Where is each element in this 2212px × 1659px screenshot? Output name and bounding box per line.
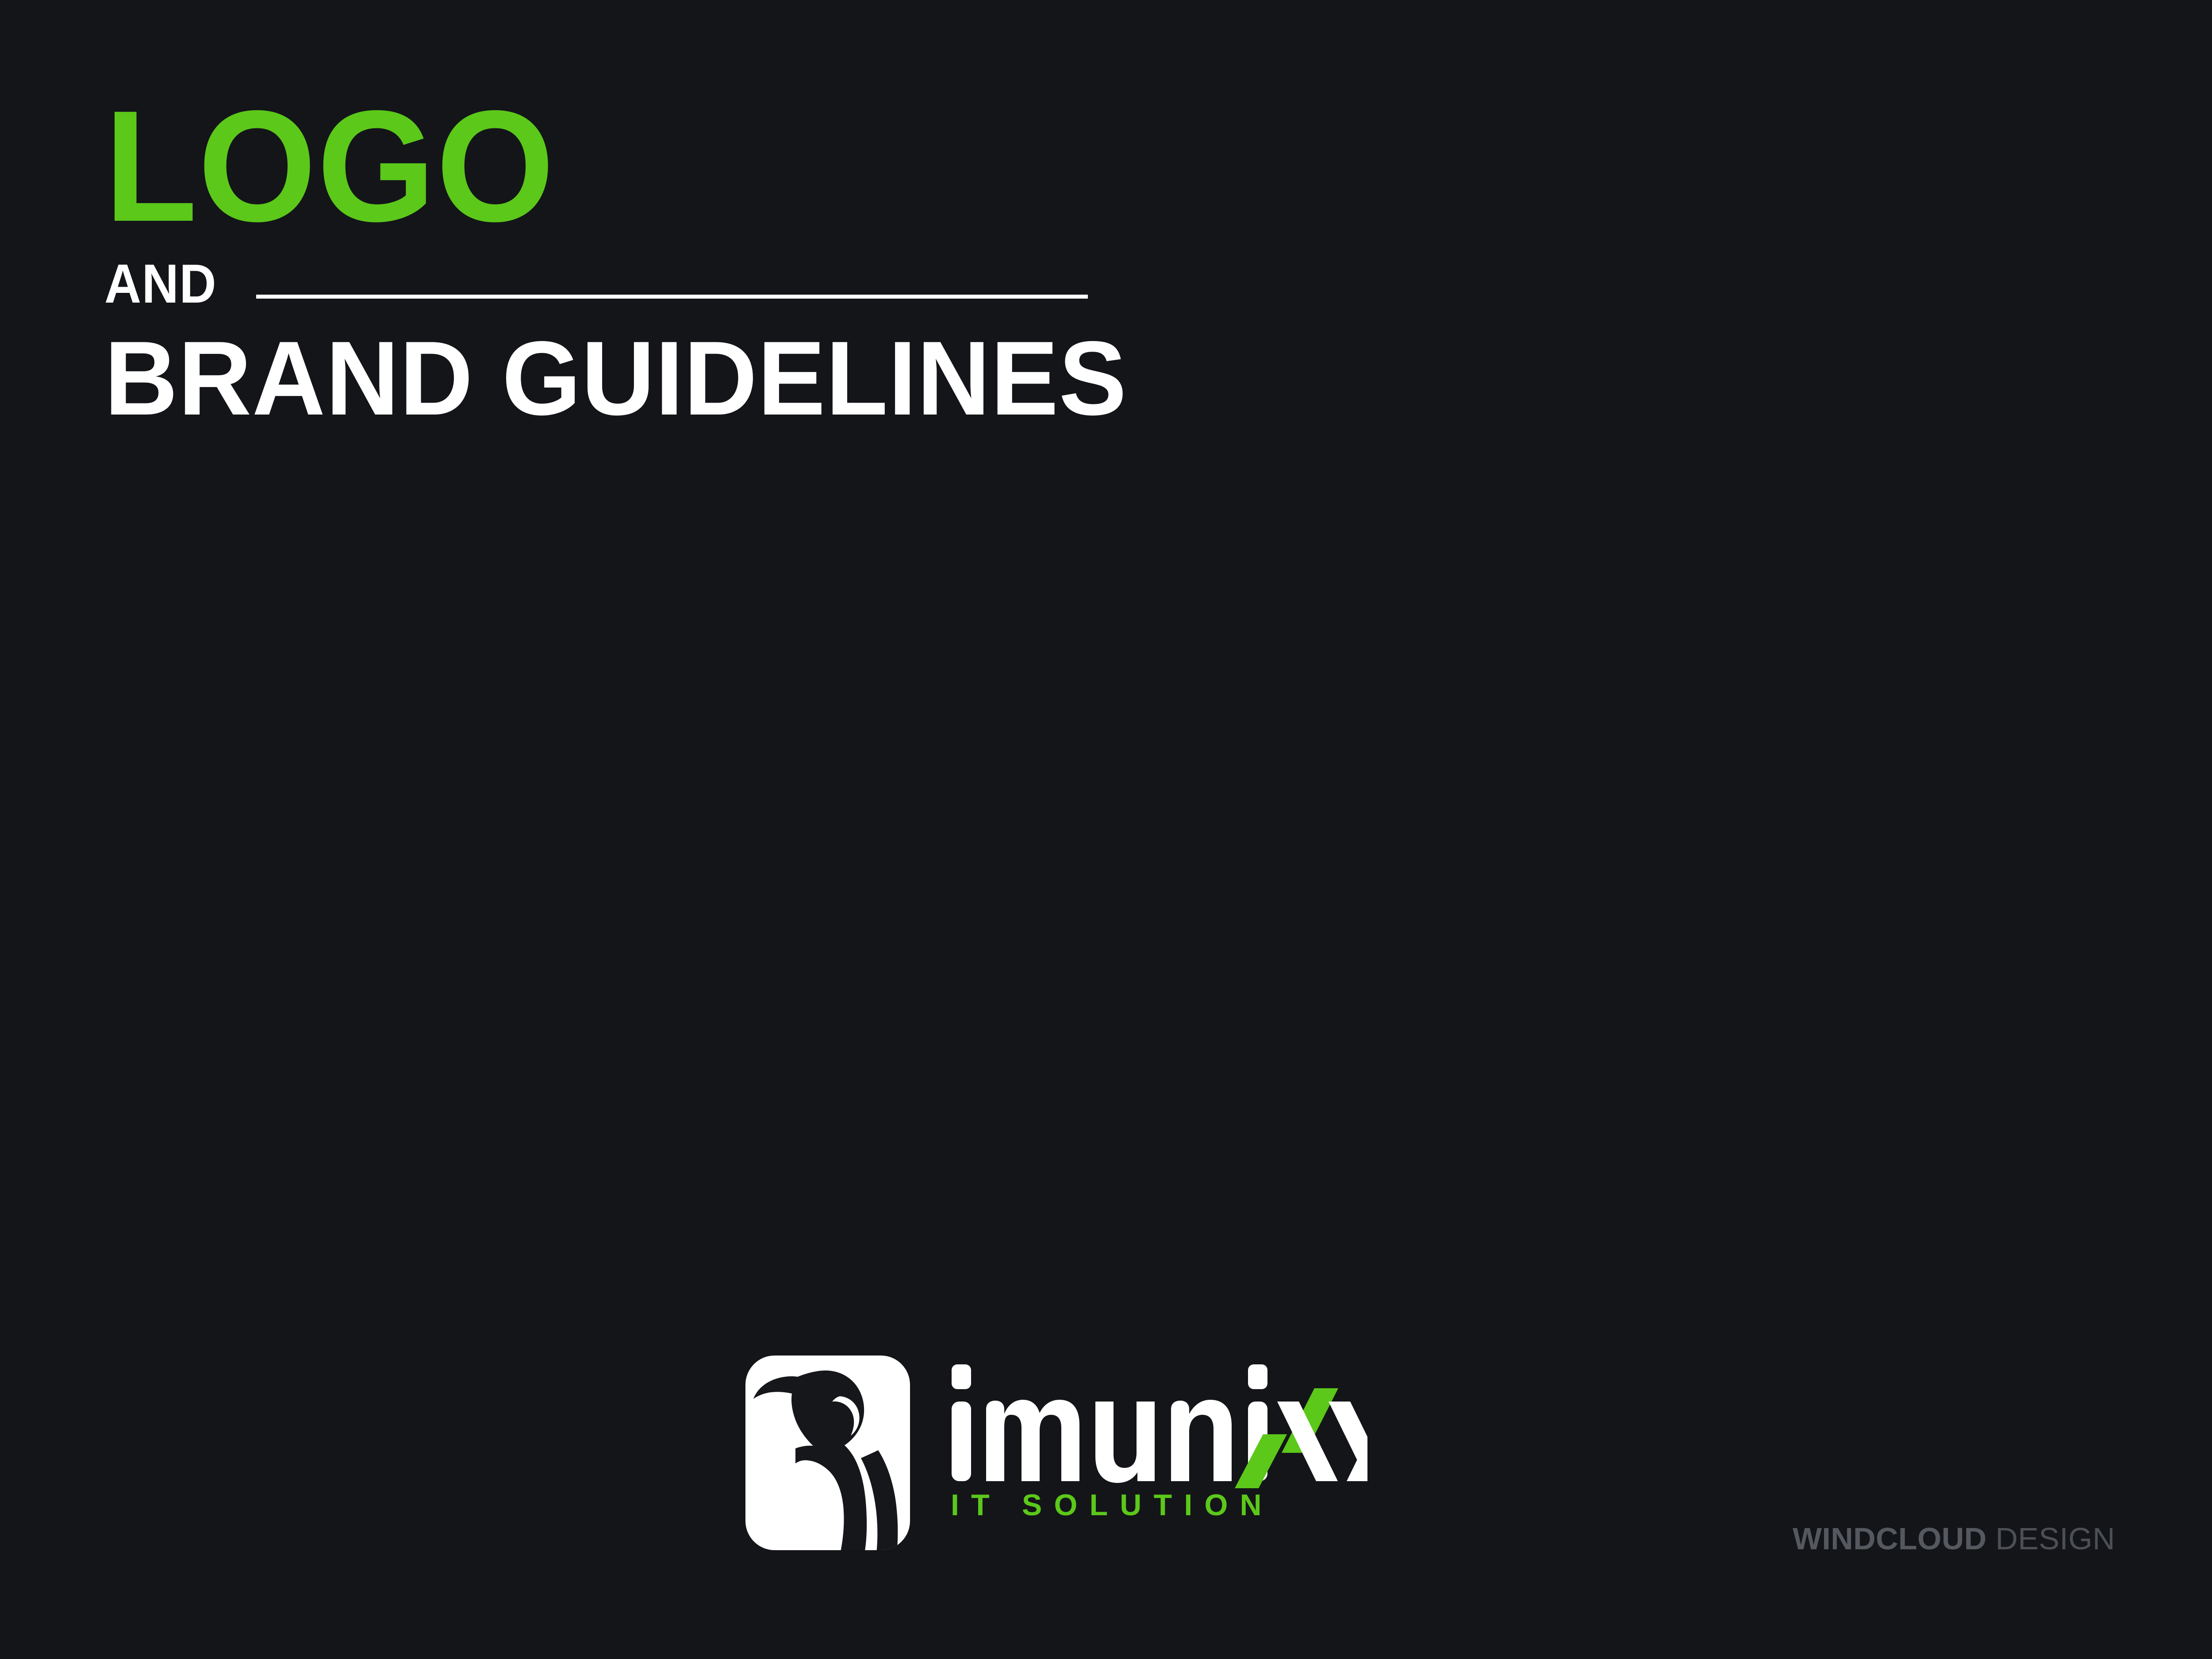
title-conjunction-and: AND xyxy=(104,263,217,305)
title-and-row: AND xyxy=(104,262,1166,305)
imunixx-wordmark-icon xyxy=(949,1364,1367,1488)
slide-canvas: LOGO AND BRAND GUIDELINES xyxy=(0,0,2212,1659)
watermark: WINDCLOUD DESIGN xyxy=(1793,1523,2115,1554)
logo-lockup: IT SOLUTION xyxy=(745,1356,1367,1550)
logo-text-group: IT SOLUTION xyxy=(949,1356,1367,1520)
logo-tagline: IT SOLUTION xyxy=(951,1490,1367,1520)
watermark-brand: WINDCLOUD xyxy=(1793,1521,1987,1556)
penguin-logo-mark-icon xyxy=(745,1356,910,1550)
title-block: LOGO AND BRAND GUIDELINES xyxy=(104,104,1166,421)
watermark-suffix: DESIGN xyxy=(1987,1521,2115,1556)
page-title-brand-guidelines: BRAND GUIDELINES xyxy=(104,337,1129,421)
page-title-logo: LOGO xyxy=(104,104,1124,228)
title-divider-rule xyxy=(256,295,1088,299)
